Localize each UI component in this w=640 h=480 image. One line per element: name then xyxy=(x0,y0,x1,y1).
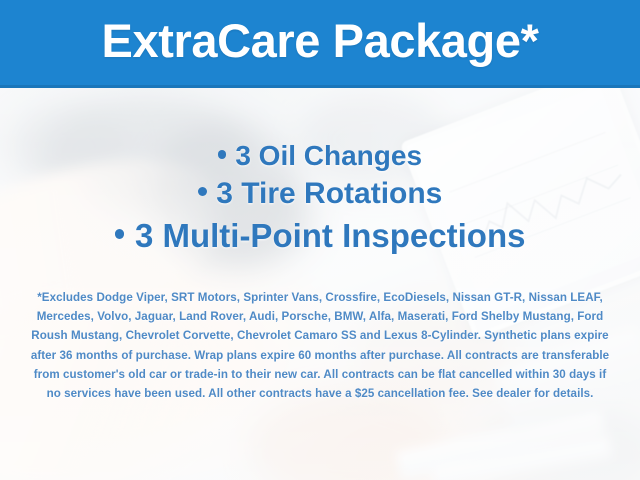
extracare-package-ad: ExtraCare Package* 3 Oil Changes 3 Tire … xyxy=(0,0,640,480)
bullet-dot-icon xyxy=(198,187,207,196)
bullet-dot-icon xyxy=(115,229,125,239)
list-item: 3 Multi-Point Inspections xyxy=(0,215,640,256)
list-item: 3 Oil Changes xyxy=(0,138,640,173)
benefit-label: 3 Oil Changes xyxy=(235,140,422,171)
page-title: ExtraCare Package* xyxy=(0,15,640,68)
benefit-label: 3 Multi-Point Inspections xyxy=(135,217,526,254)
list-item: 3 Tire Rotations xyxy=(0,175,640,213)
bullet-dot-icon xyxy=(218,150,226,158)
header-band: ExtraCare Package* xyxy=(0,0,640,88)
benefit-label: 3 Tire Rotations xyxy=(216,177,442,210)
benefits-list: 3 Oil Changes 3 Tire Rotations 3 Multi-P… xyxy=(0,138,640,256)
disclaimer-text: *Excludes Dodge Viper, SRT Motors, Sprin… xyxy=(26,288,614,403)
